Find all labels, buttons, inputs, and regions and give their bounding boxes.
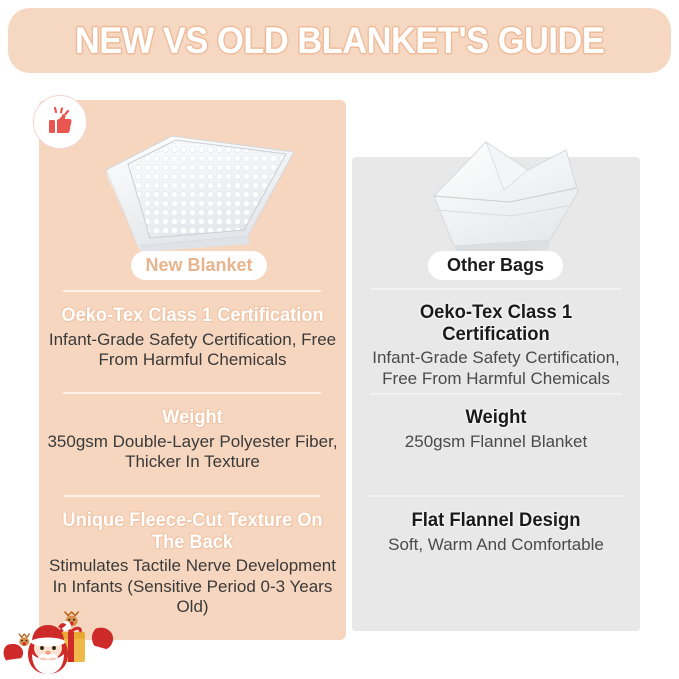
feature-section-weight: Weight 250gsm Flannel Blanket: [352, 407, 640, 452]
feature-heading: Flat Flannel Design: [364, 510, 628, 532]
panel-divider: [370, 288, 622, 290]
feature-heading: Oeko-Tex Class 1 Certification: [53, 305, 332, 327]
feature-heading: Weight: [364, 407, 628, 429]
panel-divider: [63, 290, 321, 292]
page-title: NEW VS OLD BLANKET'S GUIDE: [75, 20, 604, 62]
feature-section-texture: Unique Fleece-Cut Texture On The Back St…: [39, 510, 346, 617]
feature-body: Infant-Grade Safety Certification, Free …: [47, 330, 338, 371]
feature-body: Soft, Warm And Comfortable: [360, 535, 632, 555]
feature-heading: Oeko-Tex Class 1 Certification: [364, 302, 628, 345]
panel-divider: [63, 392, 321, 394]
thumbs-up-badge: [33, 95, 87, 149]
feature-heading: Unique Fleece-Cut Texture On The Back: [53, 510, 332, 553]
other-bags-blanket-photo: [400, 130, 596, 260]
new-blanket-photo: [98, 118, 306, 253]
panel-divider: [370, 393, 622, 395]
pill-text: New Blanket: [145, 255, 252, 276]
panel-divider: [370, 495, 622, 497]
new-blanket-label: New Blanket: [131, 251, 267, 280]
feature-body: Infant-Grade Safety Certification, Free …: [360, 348, 632, 389]
feature-section-certification: Oeko-Tex Class 1 Certification Infant-Gr…: [352, 302, 640, 389]
feature-body: 250gsm Flannel Blanket: [360, 432, 632, 452]
thumbs-up-icon: [43, 105, 77, 139]
other-bags-label: Other Bags: [428, 251, 563, 280]
feature-heading: Weight: [53, 407, 332, 429]
santa-claus-icon: [2, 604, 122, 676]
feature-body: 350gsm Double-Layer Polyester Fiber, Thi…: [47, 432, 338, 473]
feature-section-certification: Oeko-Tex Class 1 Certification Infant-Gr…: [39, 305, 346, 370]
pill-text: Other Bags: [447, 255, 544, 276]
feature-section-design: Flat Flannel Design Soft, Warm And Comfo…: [352, 510, 640, 555]
panel-divider: [63, 495, 321, 497]
feature-section-weight: Weight 350gsm Double-Layer Polyester Fib…: [39, 407, 346, 472]
title-banner: NEW VS OLD BLANKET'S GUIDE: [8, 8, 671, 73]
